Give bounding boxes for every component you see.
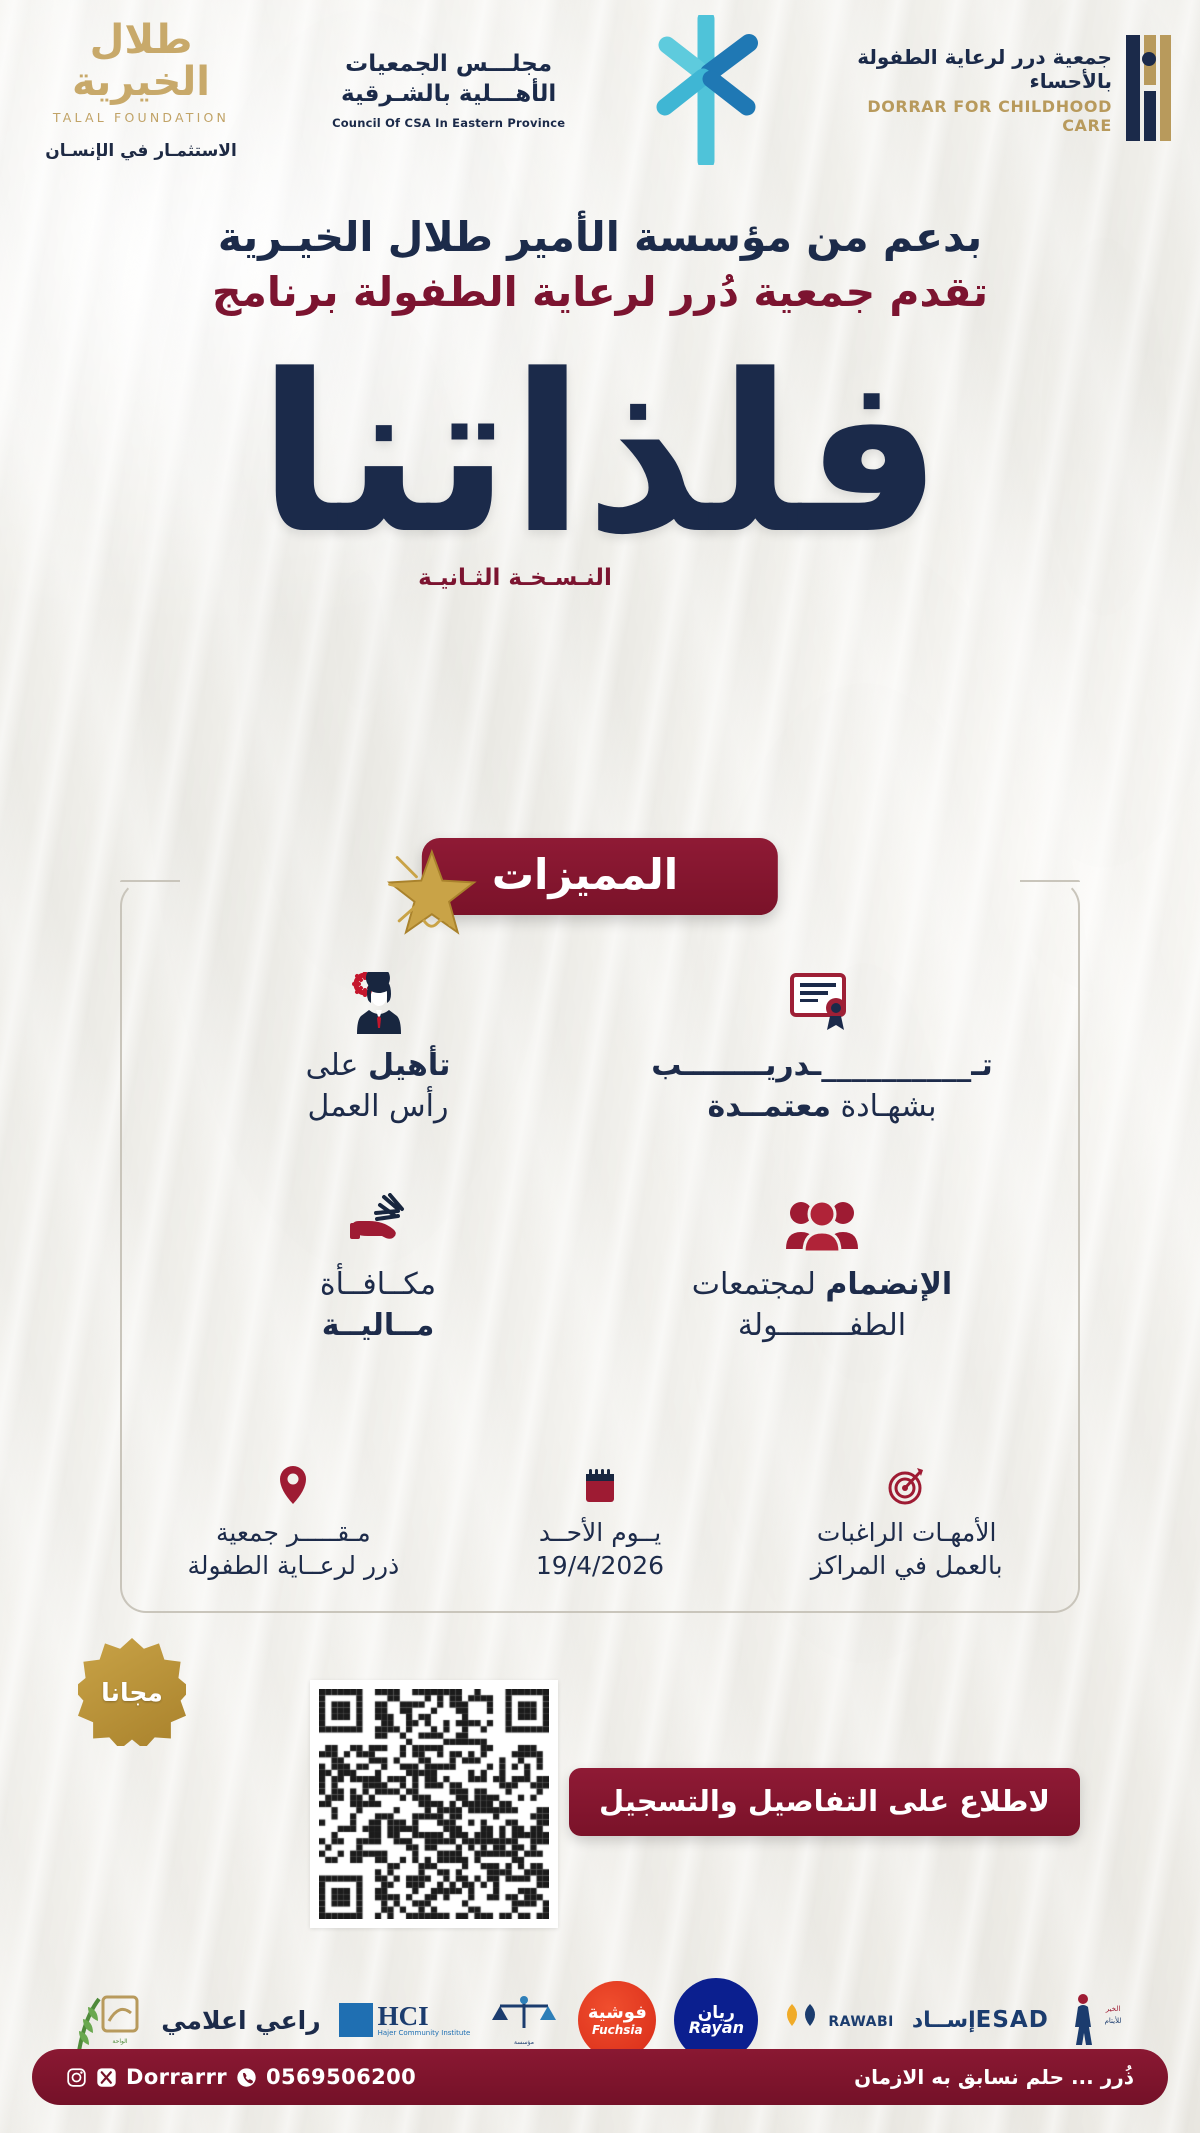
hci-mark-icon <box>339 2003 373 2037</box>
sponsor-wheat-logo: الواحة <box>69 1980 143 2060</box>
free-badge: مجانا <box>78 1638 186 1746</box>
info-text-target-audience: الأمهـات الراغبات بالعمل في المراكز <box>759 1516 1054 1584</box>
feature-text-certified-training: تـ__________ـدريــــــــب بشهـادة معتمــ… <box>610 1046 1034 1127</box>
csa-latin-name: Council Of CSA In Eastern Province <box>319 116 579 130</box>
features-badge: المميزات <box>422 838 778 915</box>
intro-line-presented-by: تقدم جمعية دُرر لرعاية الطفولة برنامج <box>0 267 1200 318</box>
fuchsia-arabic-label: فوشية <box>588 2004 647 2022</box>
program-wordmark: فلذاتنا <box>0 352 1200 559</box>
feature-text-on-job-qualification: تأهيل على رأس العمل <box>166 1046 590 1127</box>
calendar-icon <box>453 1460 748 1506</box>
feature-1-line-2-prefix: بشهـادة <box>831 1089 936 1124</box>
sponsor-media-label: راعي اعلامي <box>161 1980 320 2060</box>
location-pin-icon <box>146 1460 441 1506</box>
program-brand: فلذاتنا النـسـخـة الثـانيـة <box>0 352 1200 591</box>
social-handle[interactable]: Dorrarrr <box>126 2065 227 2089</box>
info-audience-line-1: الأمهـات الراغبات <box>759 1516 1054 1550</box>
trainee-person-icon <box>166 962 590 1034</box>
features-grid: تـ__________ـدريــــــــب بشهـادة معتمــ… <box>156 962 1044 1346</box>
rayan-english-label: Rayan <box>689 2020 744 2036</box>
phone-icon[interactable] <box>236 2067 257 2088</box>
talal-tagline: الاستثمـار في الإنسـان <box>26 141 256 161</box>
info-audience-line-2: بالعمل في المراكز <box>759 1549 1054 1583</box>
x-twitter-icon[interactable] <box>96 2067 117 2088</box>
svg-text:الخير: الخير <box>1105 2005 1121 2013</box>
dorrar-english-name: DORRAR FOR CHILDHOOD CARE <box>834 97 1112 135</box>
feature-4-line-1: مكــافــأة <box>320 1267 436 1302</box>
talal-foundation-logo: طلال الخيرية TALAL FOUNDATION الاستثمـار… <box>26 19 256 161</box>
info-location-line-1: مـقـــــر جمعية <box>146 1516 441 1550</box>
sponsor-fuchsia-logo: فوشية Fuchsia <box>578 1980 656 2060</box>
hand-money-icon <box>166 1181 590 1253</box>
qr-canvas[interactable] <box>319 1689 549 1919</box>
svg-text:مؤسسة: مؤسسة <box>514 2039 534 2046</box>
sponsor-partner-logo: الخير للأيتام <box>1067 1980 1131 2060</box>
features-section: المميزات تـ__________ـدر <box>120 880 1080 1613</box>
poster-root: طلال الخيرية TALAL FOUNDATION الاستثمـار… <box>0 0 1200 2133</box>
feature-2-line-1-rest: على <box>306 1048 368 1083</box>
rawabi-label: RAWABI <box>828 2014 894 2030</box>
sponsor-scale-logo: مؤسسة <box>488 1980 560 2060</box>
program-wordmark-text: فلذاتنا <box>257 329 942 582</box>
feature-2-line-1-bold: تأهيل <box>368 1048 450 1083</box>
free-badge-label: مجانا <box>101 1678 163 1707</box>
feature-text-financial-reward: مكــافــأة مــاليــة <box>166 1265 590 1346</box>
svg-text:للأيتام: للأيتام <box>1104 2016 1121 2025</box>
intro-titles: بدعم من مؤسسة الأمير طلال الخيـرية تقدم … <box>0 212 1200 319</box>
dorrar-mark-icon <box>1122 29 1174 151</box>
feature-item-on-job-qualification: تأهيل على رأس العمل <box>156 962 600 1127</box>
talal-latin-name: TALAL FOUNDATION <box>26 110 256 125</box>
instagram-icon[interactable] <box>66 2067 87 2088</box>
feature-item-join-communities: الإنضمام لمجتمعات الطفــــــــولة <box>600 1181 1044 1346</box>
csa-council-logo: مجلـــس الجمعيات الأهـــلية بالشـرقية Co… <box>319 50 579 130</box>
program-edition-label: النـسـخـة الثـانيـة <box>0 565 1200 591</box>
contact-phone[interactable]: 0569506200 <box>266 2065 416 2089</box>
fuchsia-english-label: Fuchsia <box>592 2024 643 2036</box>
people-group-icon <box>610 1181 1034 1253</box>
sponsor-rawabi-logo: RAWABI <box>776 1980 894 2060</box>
header-logo-bar: طلال الخيرية TALAL FOUNDATION الاستثمـار… <box>0 0 1200 180</box>
gold-star-icon <box>384 846 480 942</box>
feature-3-line-2: الطفــــــــولة <box>738 1308 906 1343</box>
csa-line-1: مجلـــس الجمعيات <box>319 50 579 80</box>
csa-symbol-icon <box>641 15 771 165</box>
feature-3-line-1-rest: لمجتمعات <box>692 1267 826 1302</box>
feature-item-financial-reward: مكــافــأة مــاليــة <box>156 1181 600 1346</box>
info-date-value: 19/4/2026 <box>453 1549 748 1583</box>
event-info-row: الأمهـات الراغبات بالعمل في المراكز <box>140 1460 1060 1584</box>
csa-line-2: الأهـــلية بالشـرقية <box>319 80 579 110</box>
footer-slogan: ذُرر ... حلم نسابق به الازمان <box>854 2065 1134 2089</box>
talal-wordmark: طلال الخيرية <box>26 19 256 103</box>
dorrar-arabic-name: جمعية درر لرعاية الطفولة بالأحساء <box>834 45 1112 93</box>
info-text-location: مـقـــــر جمعية ذرر لرعــاية الطفولة <box>146 1516 441 1584</box>
esad-arabic-label: إســاد <box>912 2008 976 2033</box>
target-icon <box>759 1460 1054 1506</box>
intro-line-supported-by: بدعم من مؤسسة الأمير طلال الخيـرية <box>0 212 1200 263</box>
esad-english-label: ESAD <box>976 2007 1049 2033</box>
feature-2-line-2: رأس العمل <box>308 1089 449 1124</box>
info-location-line-2: ذرر لرعــاية الطفولة <box>146 1549 441 1583</box>
feature-3-line-1-bold: الإنضمام <box>825 1267 952 1302</box>
feature-4-line-2: مــاليــة <box>322 1308 435 1343</box>
svg-text:الواحة: الواحة <box>113 2038 129 2045</box>
sponsor-rayan-logo: ريان Rayan <box>674 1980 758 2060</box>
footer-contact-bar: Dorrarrr 0569506200 ذُرر ... حلم نسابق ب… <box>32 2049 1168 2105</box>
feature-text-join-communities: الإنضمام لمجتمعات الطفــــــــولة <box>610 1265 1034 1346</box>
sponsor-esad-logo: إســاد ESAD <box>912 1980 1049 2060</box>
certificate-icon <box>610 962 1034 1034</box>
dorrar-association-logo: جمعية درر لرعاية الطفولة بالأحساء DORRAR… <box>834 29 1174 151</box>
info-item-location: مـقـــــر جمعية ذرر لرعــاية الطفولة <box>140 1460 447 1584</box>
info-text-date: يــوم الأحــد 19/4/2026 <box>453 1516 748 1584</box>
sponsor-hci-logo: HCI Hajer Community Institute <box>339 1980 471 2060</box>
registration-qr-code[interactable] <box>310 1680 558 1928</box>
hci-label: HCI <box>378 2001 429 2031</box>
info-item-target-audience: الأمهـات الراغبات بالعمل في المراكز <box>753 1460 1060 1584</box>
feature-1-line-1: تـ__________ـدريــــــــب <box>651 1048 992 1083</box>
feature-item-certified-training: تـ__________ـدريــــــــب بشهـادة معتمــ… <box>600 962 1044 1127</box>
info-date-day: يــوم الأحــد <box>453 1516 748 1550</box>
info-item-date: يــوم الأحــد 19/4/2026 <box>447 1460 754 1584</box>
hci-sublabel: Hajer Community Institute <box>378 2030 471 2037</box>
registration-cta-button[interactable]: لاطلاع على التفاصيل والتسجيل <box>569 1768 1080 1836</box>
feature-1-line-2-bold: معتمــدة <box>708 1089 831 1124</box>
